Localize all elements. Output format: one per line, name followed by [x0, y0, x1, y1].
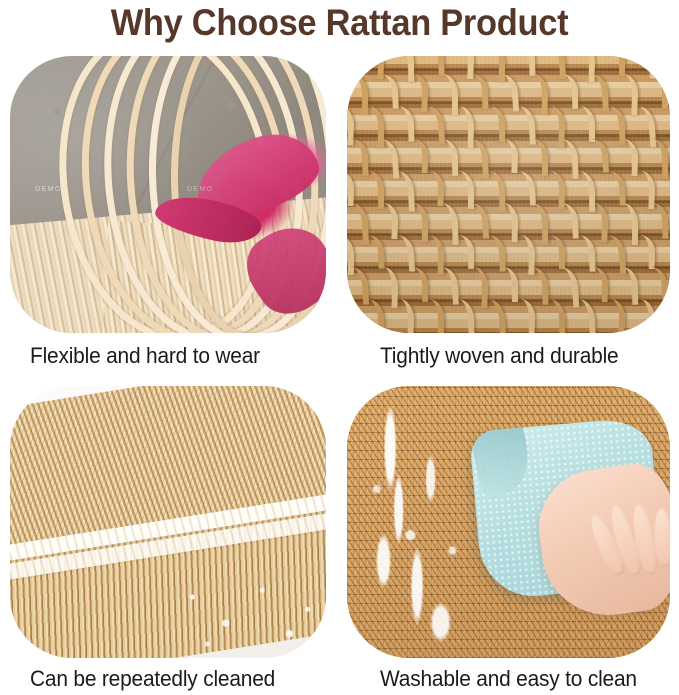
feature-image-durable — [347, 56, 670, 333]
feature-card-flexible: DEMO DEMO — [10, 56, 326, 333]
feature-caption-washable: Washable and easy to clean — [380, 666, 637, 692]
feature-card-repeatedly-cleaned — [10, 386, 326, 658]
feature-image-flexible: DEMO DEMO — [10, 56, 326, 333]
feature-caption-repeatedly-cleaned: Can be repeatedly cleaned — [30, 666, 275, 692]
page-title: Why Choose Rattan Product — [24, 2, 655, 44]
water-droplets — [174, 571, 326, 658]
rattan-feature-infographic: Why Choose Rattan Product DEMO DEMO Flex… — [0, 0, 679, 695]
feature-image-washable — [347, 386, 670, 658]
feature-card-washable — [347, 386, 670, 658]
feature-caption-durable: Tightly woven and durable — [380, 343, 618, 369]
weave-shading-overlay — [347, 56, 670, 333]
feature-card-durable — [347, 56, 670, 333]
watermark-demo-1: DEMO — [35, 186, 62, 193]
feature-image-repeatedly-cleaned — [10, 386, 326, 658]
feature-caption-flexible: Flexible and hard to wear — [30, 343, 260, 369]
watermark-demo-2: DEMO — [187, 186, 214, 193]
